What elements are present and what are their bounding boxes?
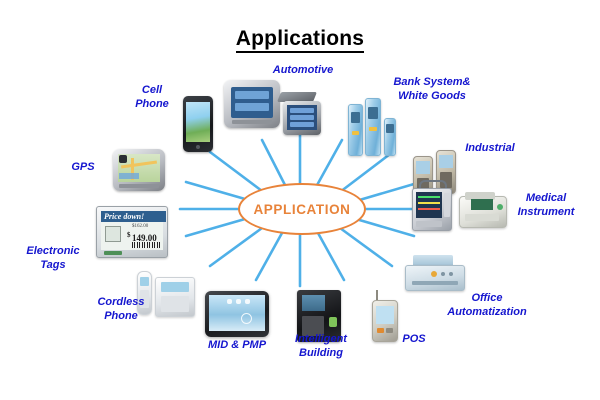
spoke-line (318, 233, 344, 280)
applications-diagram: Applications APPLICATION (0, 0, 600, 400)
device-car-navigation (224, 80, 280, 128)
device-printer (405, 255, 465, 297)
spoke-line (210, 152, 262, 191)
spoke-line (186, 182, 245, 199)
shelf-label-old-price: $162.00 (132, 224, 148, 229)
label-cell-phone: Cell Phone (121, 84, 183, 112)
label-mid-pmp: MID & PMP (203, 339, 271, 353)
label-office-automatization: Office Automatization (437, 292, 537, 320)
label-electronic-tags: Electronic Tags (14, 245, 92, 273)
device-bank-towers (348, 98, 398, 160)
label-gps: GPS (62, 161, 104, 175)
center-node: APPLICATION (238, 183, 366, 235)
shelf-label-headline: Price down! (101, 211, 166, 222)
label-cordless-phone: Cordless Phone (83, 296, 159, 324)
nav-screen-line1 (235, 91, 269, 99)
spoke-line (210, 228, 262, 266)
spoke-line (356, 219, 414, 236)
spoke-line (356, 184, 414, 201)
device-tablet (205, 291, 269, 337)
device-patient-monitor (411, 180, 453, 232)
center-node-label: APPLICATION (253, 202, 350, 217)
spoke-line (340, 228, 392, 266)
device-gps-navigator (113, 149, 165, 191)
page-title-text: Applications (236, 27, 364, 53)
label-automotive: Automotive (262, 64, 344, 78)
label-industrial: Industrial (455, 142, 525, 156)
spoke-line (256, 233, 282, 280)
label-pos: POS (392, 333, 436, 347)
spoke-line (316, 140, 342, 187)
shelf-label-currency: $ (127, 231, 131, 239)
spoke-line (186, 219, 245, 236)
device-smartphone (183, 96, 213, 152)
label-intelligent-building: Intelligent Building (283, 333, 359, 361)
label-medical-instrument: Medical Instrument (498, 192, 594, 220)
nav-screen-line2 (235, 103, 269, 111)
device-electronic-shelf-label: Price down! $162.00 $ 149.00 (96, 206, 168, 258)
device-car-display (277, 92, 321, 136)
label-bank-white-goods: Bank System& White Goods (382, 76, 482, 104)
page-title: Applications (0, 27, 600, 51)
spoke-line (262, 140, 286, 187)
